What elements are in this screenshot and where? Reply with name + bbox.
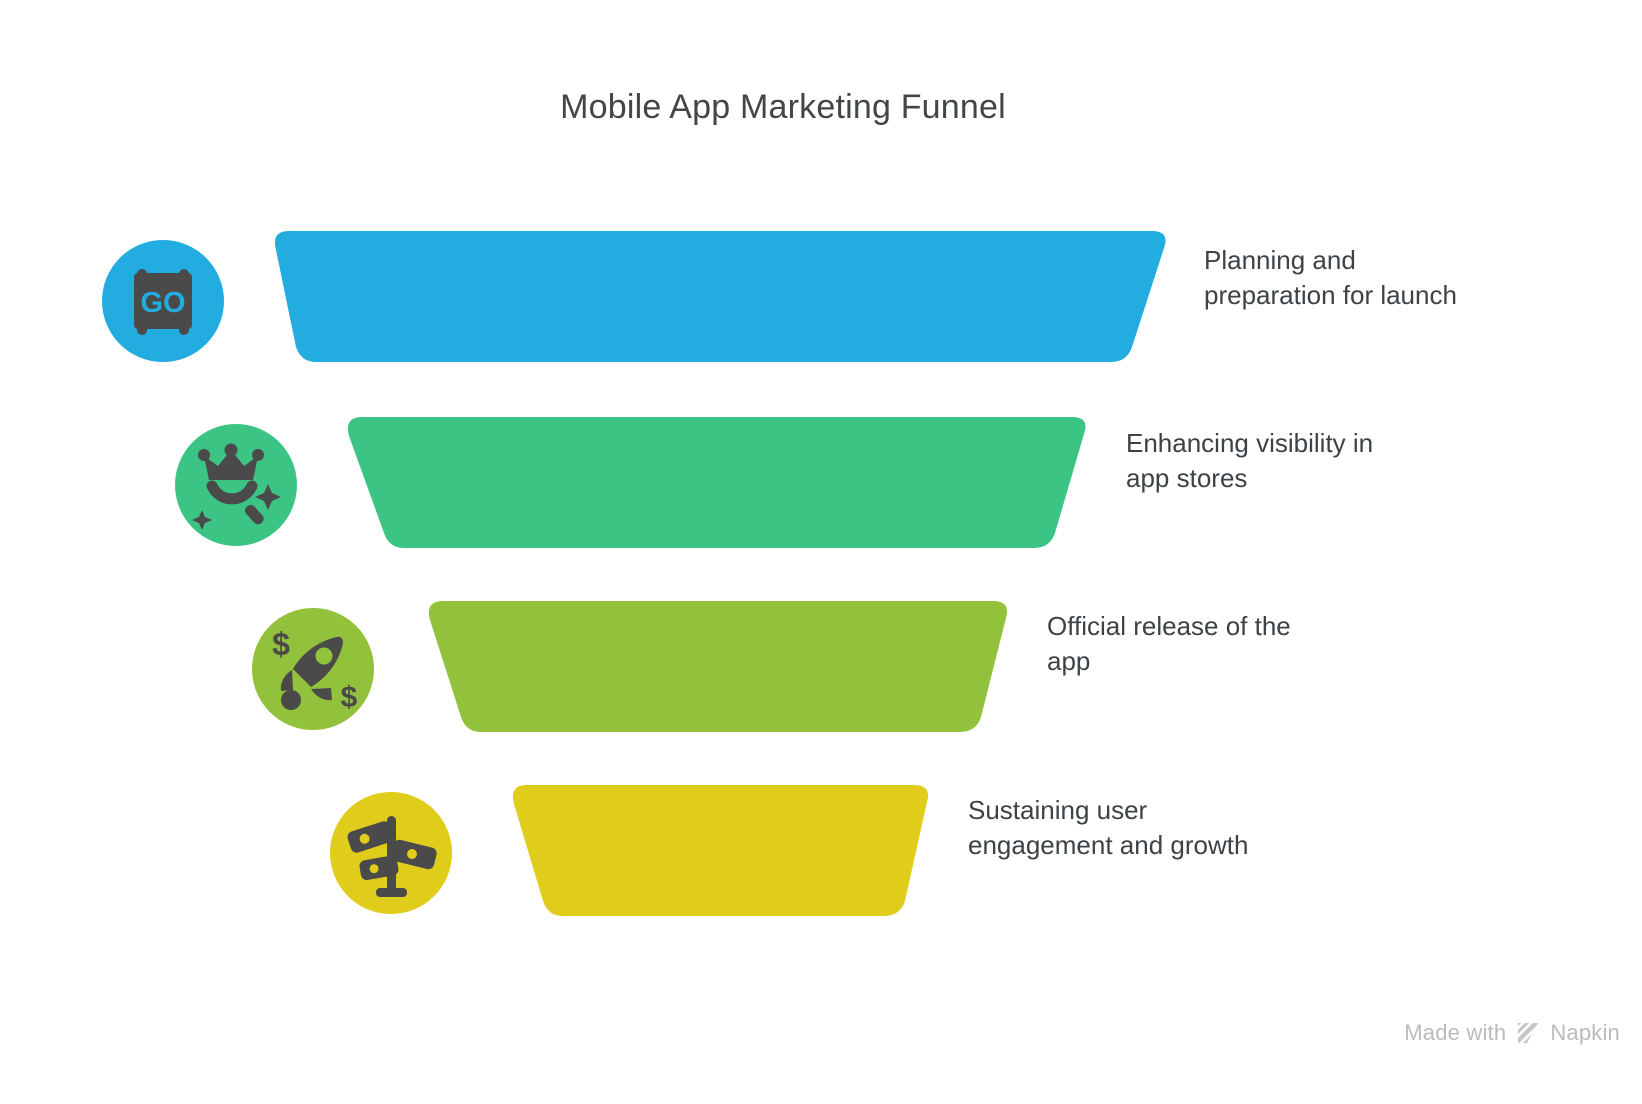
go-sign-icon: GO xyxy=(117,255,209,347)
stage-3-icon-circle[interactable]: $ $ xyxy=(252,608,374,730)
funnel-band-2[interactable] xyxy=(348,417,1086,548)
funnel-bands xyxy=(0,0,1642,1104)
rocket-money-icon: $ $ xyxy=(265,621,361,717)
funnel-band-1[interactable] xyxy=(275,231,1166,362)
stage-4-label: Sustaining user engagement and growth xyxy=(968,793,1318,863)
stage-2-label: Enhancing visibility in app stores xyxy=(1126,426,1466,496)
funnel-diagram-canvas: Mobile App Marketing Funnel GO xyxy=(0,0,1642,1104)
stage-1-icon-circle[interactable]: GO xyxy=(102,240,224,362)
stage-1-label: Planning and preparation for launch xyxy=(1204,243,1534,313)
funnel-band-4[interactable] xyxy=(513,785,928,916)
stage-2-icon-circle[interactable] xyxy=(175,424,297,546)
napkin-logo-icon xyxy=(1515,1021,1541,1045)
dollar-sign-2: $ xyxy=(341,681,358,714)
funnel-band-3[interactable] xyxy=(429,601,1007,732)
watermark-brand: Napkin xyxy=(1550,1020,1620,1046)
stage-4-icon-circle[interactable] xyxy=(330,792,452,914)
signpost-icon xyxy=(344,806,438,900)
watermark-prefix: Made with xyxy=(1404,1020,1506,1046)
crown-search-icon xyxy=(189,438,283,532)
dollar-sign-1: $ xyxy=(272,626,290,662)
go-sign-text: GO xyxy=(140,287,185,319)
watermark: Made with Napkin xyxy=(1404,1020,1620,1046)
stage-3-label: Official release of the app xyxy=(1047,609,1387,679)
